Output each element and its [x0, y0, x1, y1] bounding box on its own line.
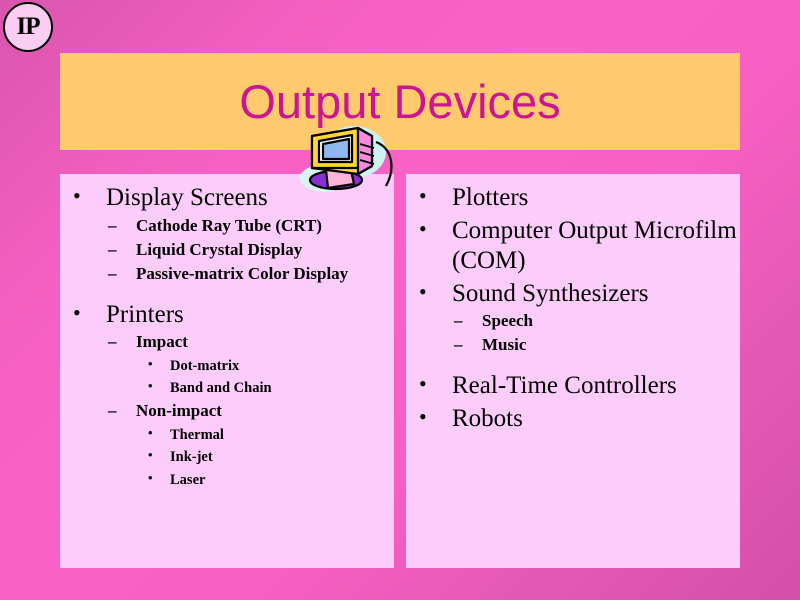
slide-title-bar: Output Devices [60, 53, 740, 150]
ip-logo-text: IP [17, 14, 40, 39]
slide-canvas: IP Output Devices Display Screens Cathod… [0, 0, 800, 600]
list-item: Cathode Ray Tube (CRT) [60, 214, 394, 238]
bullet-list-right: Plotters Computer Output Microfilm (COM)… [406, 174, 740, 434]
list-item: Laser [60, 469, 394, 491]
list-item: Real-Time Controllers [406, 371, 740, 402]
list-item: Speech [406, 309, 740, 333]
content-panel-right: Plotters Computer Output Microfilm (COM)… [406, 174, 740, 568]
list-item: Liquid Crystal Display [60, 238, 394, 262]
list-item: Plotters [406, 183, 740, 214]
list-item: Thermal [60, 424, 394, 446]
list-item: Computer Output Microfilm (COM) [406, 216, 740, 277]
list-item: Dot-matrix [60, 355, 394, 377]
list-item: Ink-jet [60, 446, 394, 468]
list-item: Sound Synthesizers [406, 279, 740, 310]
list-item: Non-impact [60, 399, 394, 423]
list-item: Impact [60, 330, 394, 354]
page-title: Output Devices [239, 78, 560, 125]
list-item: Music [406, 333, 740, 357]
ip-logo: IP [3, 2, 53, 52]
bullet-list-left: Display Screens Cathode Ray Tube (CRT) L… [60, 174, 394, 491]
list-item: Printers [60, 300, 394, 331]
list-item: Robots [406, 404, 740, 435]
content-panel-left: Display Screens Cathode Ray Tube (CRT) L… [60, 174, 394, 568]
list-item: Band and Chain [60, 377, 394, 399]
list-item: Display Screens [60, 183, 394, 214]
list-item: Passive-matrix Color Display [60, 262, 394, 286]
